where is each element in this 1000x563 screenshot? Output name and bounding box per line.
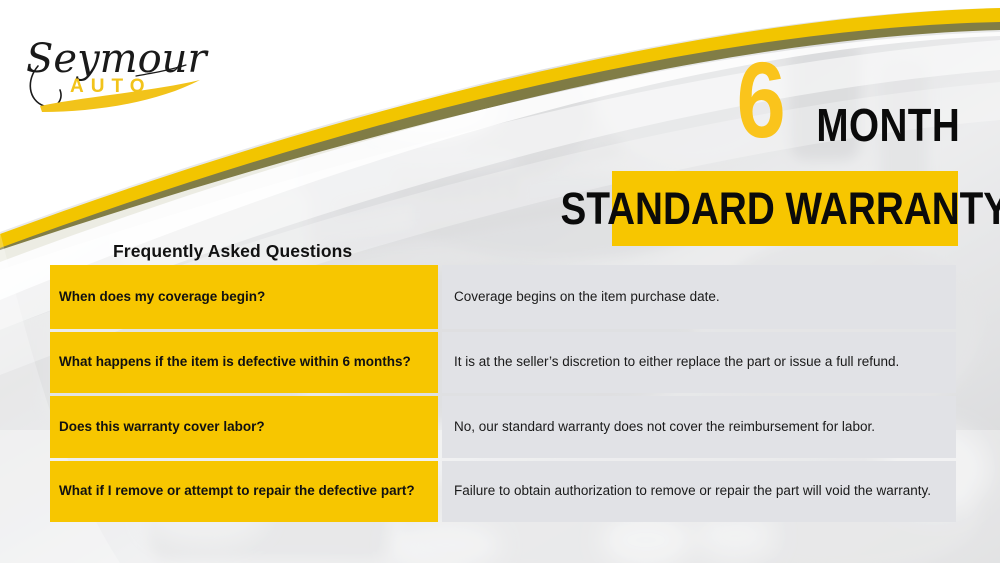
faq-answer-text: Coverage begins on the item purchase dat… [454,288,942,307]
warranty-slide: Seymour AUTO 6 MONTH STANDARD WARRANTY F… [0,0,1000,563]
faq-answer-cell: It is at the seller’s discretion to eith… [442,332,956,393]
faq-question-text: When does my coverage begin? [59,288,265,306]
table-row: What happens if the item is defective wi… [50,332,956,393]
banner-label: STANDARD WARRANTY [561,186,1000,231]
table-row: What if I remove or attempt to repair th… [50,461,956,522]
faq-question-cell: What if I remove or attempt to repair th… [50,461,438,522]
faq-answer-text: No, our standard warranty does not cover… [454,418,942,437]
table-row: When does my coverage begin? Coverage be… [50,265,956,329]
duration-number: 6 [736,46,784,154]
faq-answer-cell: Coverage begins on the item purchase dat… [442,265,956,329]
faq-question-text: What happens if the item is defective wi… [59,353,411,371]
faq-question-text: Does this warranty cover labor? [59,418,265,436]
faq-question-cell: What happens if the item is defective wi… [50,332,438,393]
faq-answer-text: Failure to obtain authorization to remov… [454,482,942,501]
faq-answer-cell: Failure to obtain authorization to remov… [442,461,956,522]
faq-question-cell: When does my coverage begin? [50,265,438,329]
faq-question-text: What if I remove or attempt to repair th… [59,482,415,500]
faq-heading: Frequently Asked Questions [113,241,352,262]
seymour-auto-logo: Seymour AUTO [18,20,218,115]
faq-answer-text: It is at the seller’s discretion to eith… [454,353,942,372]
faq-answer-cell: No, our standard warranty does not cover… [442,396,956,458]
warranty-duration-headline: 6 MONTH [612,52,960,162]
duration-unit: MONTH [816,102,960,148]
faq-question-cell: Does this warranty cover labor? [50,396,438,458]
standard-warranty-banner: STANDARD WARRANTY [612,171,958,246]
faq-table: When does my coverage begin? Coverage be… [50,265,956,522]
table-row: Does this warranty cover labor? No, our … [50,396,956,458]
